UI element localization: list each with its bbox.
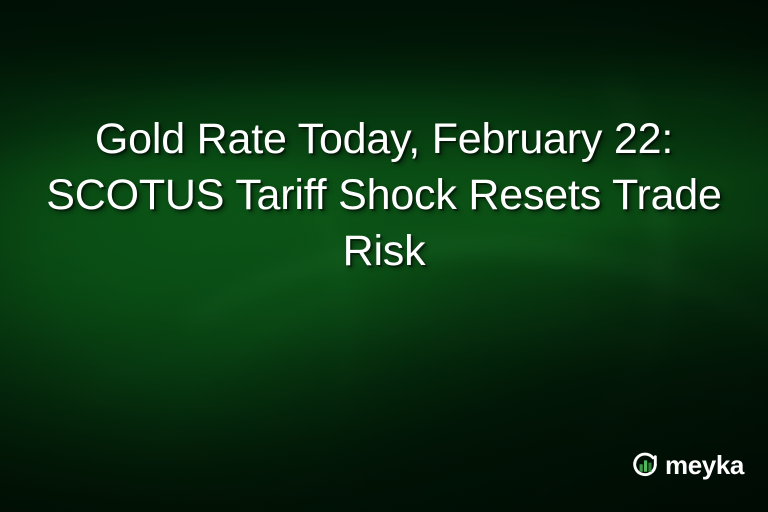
brand-logo[interactable]: meyka [630,450,744,480]
banner-headline: Gold Rate Today, February 22: SCOTUS Tar… [0,112,768,280]
article-banner: Gold Rate Today, February 22: SCOTUS Tar… [0,0,768,512]
brand-wordmark: meyka [665,452,744,478]
meyka-ring-bars-icon [630,450,660,480]
